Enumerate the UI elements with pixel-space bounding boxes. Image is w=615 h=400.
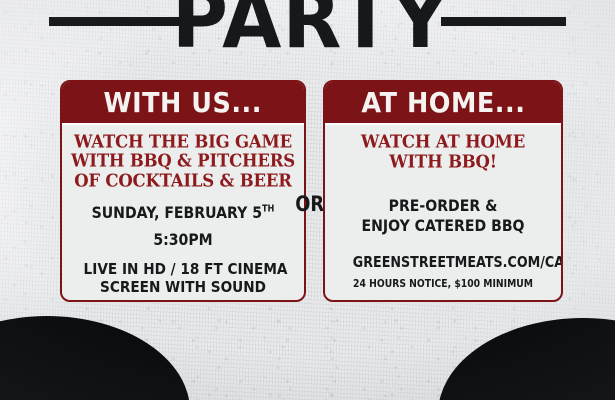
panel-at-home-header: AT HOME... xyxy=(325,82,561,125)
decorative-circle-left xyxy=(0,316,190,400)
screen-info-line-2: SCREEN WITH SOUND xyxy=(84,279,283,296)
catering-fine-print: 24 HOURS NOTICE, $100 MINIMUM xyxy=(346,279,540,291)
page-title: PARTY xyxy=(172,0,449,60)
screen-info-line-1: LIVE IN HD / 18 FT CINEMA xyxy=(84,260,283,279)
event-time: 5:30PM xyxy=(84,231,283,249)
panel-at-home: AT HOME... WATCH AT HOME WITH BBQ! PRE-O… xyxy=(323,80,563,302)
panel-with-us-body: WATCH THE BIG GAME WITH BBQ & PITCHERS O… xyxy=(62,125,304,296)
event-date-ordinal: TH xyxy=(262,204,274,215)
order-line-1: PRE-ORDER & xyxy=(346,194,540,217)
order-line-2: ENJOY CATERED BBQ xyxy=(346,217,540,235)
title-rule-left xyxy=(49,17,181,26)
event-date-text: SUNDAY, FEBRUARY 5 xyxy=(92,203,262,222)
divider-or-label: OR xyxy=(295,194,321,215)
at-home-red-line-1: WATCH AT HOME xyxy=(333,132,553,153)
poster-canvas: PARTY WITH US... WATCH THE BIG GAME WITH… xyxy=(0,0,615,400)
poster-title-row: PARTY xyxy=(0,0,615,38)
panel-at-home-body: WATCH AT HOME WITH BBQ! PRE-ORDER & ENJO… xyxy=(325,125,561,291)
event-date: SUNDAY, FEBRUARY 5TH xyxy=(84,204,283,222)
panel-with-us-header: WITH US... xyxy=(62,82,304,125)
title-rule-right xyxy=(441,17,566,26)
panel-at-home-heading: AT HOME... xyxy=(361,89,525,117)
decorative-circle-right xyxy=(438,318,615,400)
with-us-red-line-2: WITH BBQ & PITCHERS xyxy=(70,151,296,171)
with-us-red-line-1: WATCH THE BIG GAME xyxy=(70,132,296,152)
panel-with-us-heading: WITH US... xyxy=(104,89,262,117)
at-home-red-line-2: WITH BBQ! xyxy=(333,151,553,172)
catering-url[interactable]: GREENSTREETMEATS.COM/CATERING xyxy=(353,254,533,271)
panel-with-us: WITH US... WATCH THE BIG GAME WITH BBQ &… xyxy=(60,80,306,302)
with-us-red-line-3: OF COCKTAILS & BEER xyxy=(70,170,296,190)
